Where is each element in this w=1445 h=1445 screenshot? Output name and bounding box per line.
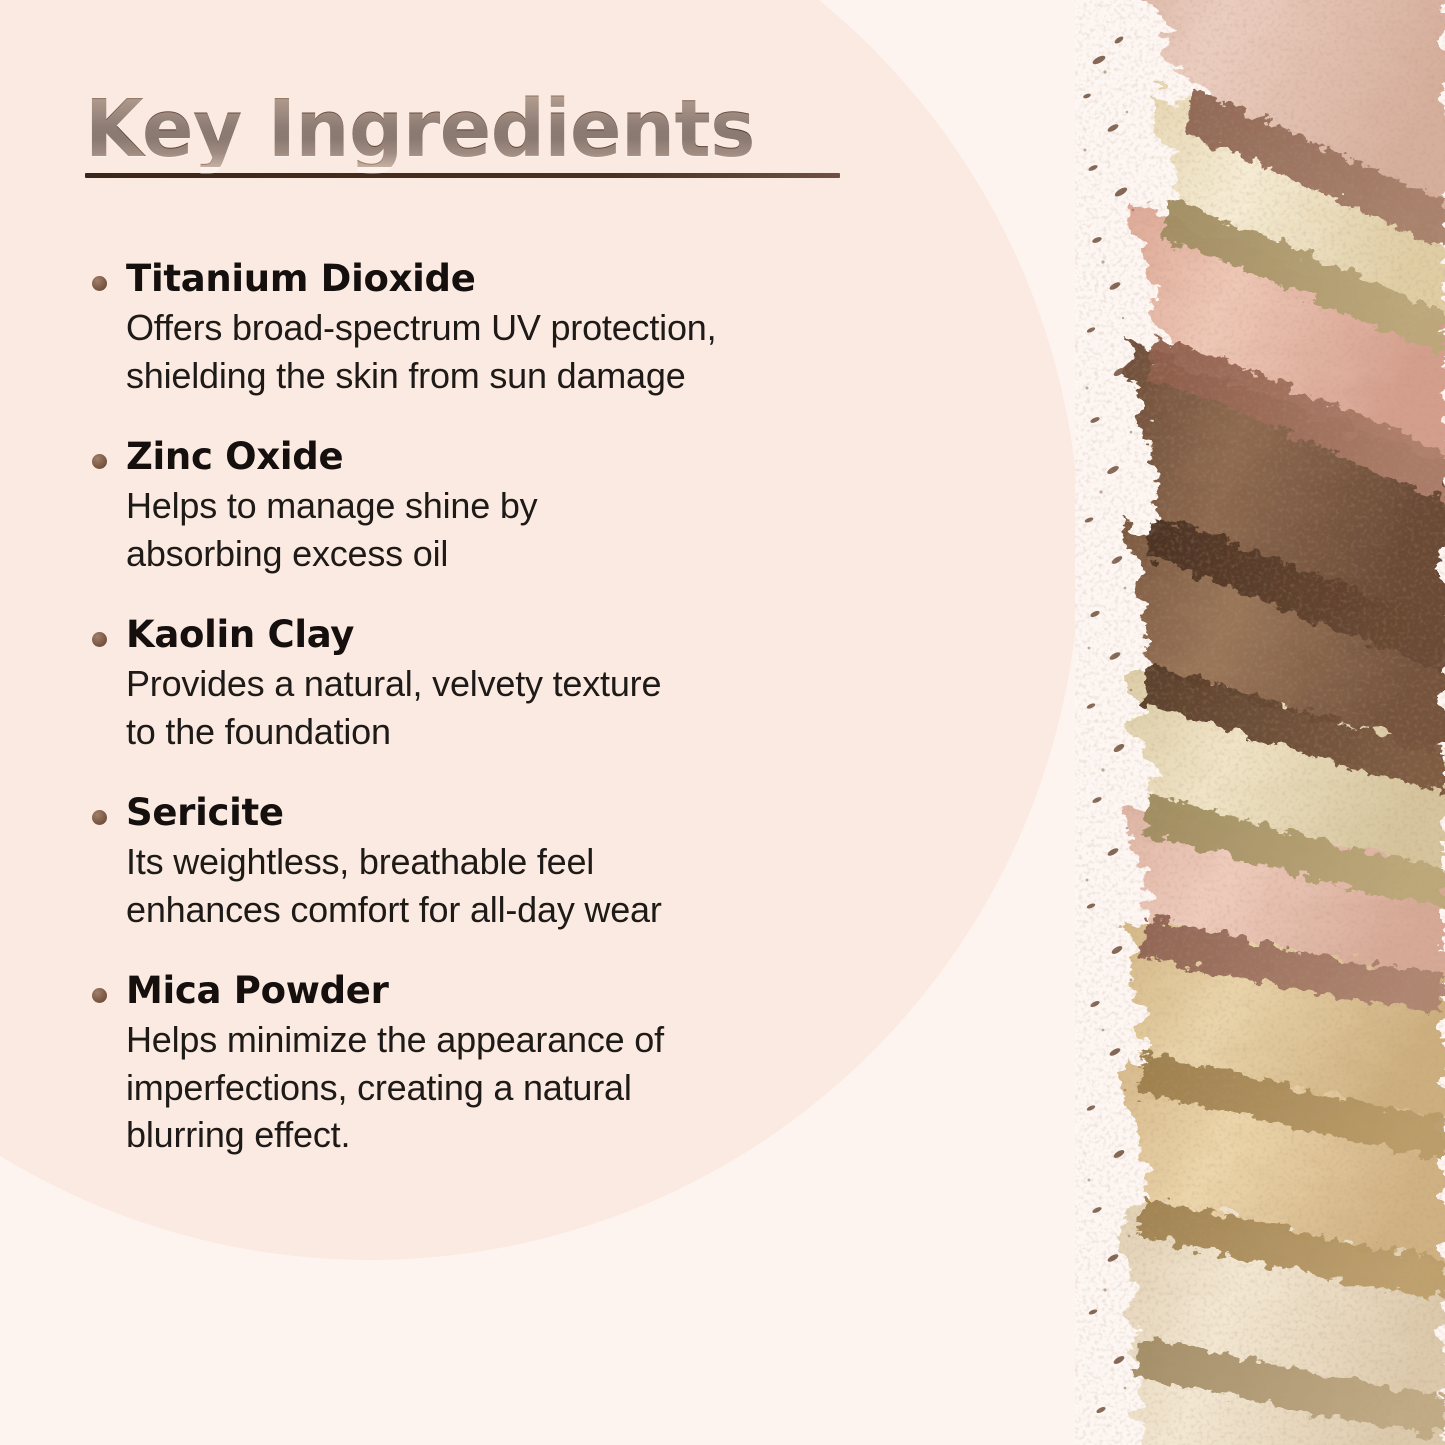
bullet-dot-icon	[92, 988, 107, 1003]
powder-illustration	[1075, 0, 1445, 1445]
content-column: Key Ingredients Titanium Dioxide Offers …	[0, 0, 1080, 1445]
list-item: Zinc Oxide Helps to manage shine by abso…	[88, 434, 988, 578]
powder-canvas	[1075, 0, 1445, 1445]
bullet-dot-icon	[92, 810, 107, 825]
list-item: Titanium Dioxide Offers broad-spectrum U…	[88, 256, 988, 400]
list-item: Sericite Its weightless, breathable feel…	[88, 790, 988, 934]
key-ingredients-infographic: Key Ingredients Titanium Dioxide Offers …	[0, 0, 1445, 1445]
list-item: Kaolin Clay Provides a natural, velvety …	[88, 612, 988, 756]
bullet-dot-icon	[92, 632, 107, 647]
ingredient-name: Mica Powder	[126, 968, 988, 1013]
ingredient-name: Kaolin Clay	[126, 612, 988, 657]
powder-swatch-photo	[1075, 0, 1445, 1445]
ingredient-list: Titanium Dioxide Offers broad-spectrum U…	[88, 256, 988, 1159]
page-title-block: Key Ingredients	[85, 92, 845, 178]
list-item: Mica Powder Helps minimize the appearanc…	[88, 968, 988, 1160]
bullet-dot-icon	[92, 276, 107, 291]
page-title: Key Ingredients	[85, 92, 815, 167]
ingredient-description: Helps minimize the appearance of imperfe…	[126, 1016, 988, 1160]
ingredient-name: Titanium Dioxide	[126, 256, 988, 301]
ingredient-description: Provides a natural, velvety texture to t…	[126, 660, 988, 756]
ingredient-description: Its weightless, breathable feel enhances…	[126, 838, 988, 934]
ingredient-description: Helps to manage shine by absorbing exces…	[126, 482, 988, 578]
ingredient-name: Sericite	[126, 790, 988, 835]
ingredient-name: Zinc Oxide	[126, 434, 988, 479]
ingredient-description: Offers broad-spectrum UV protection, shi…	[126, 304, 988, 400]
bullet-dot-icon	[92, 454, 107, 469]
